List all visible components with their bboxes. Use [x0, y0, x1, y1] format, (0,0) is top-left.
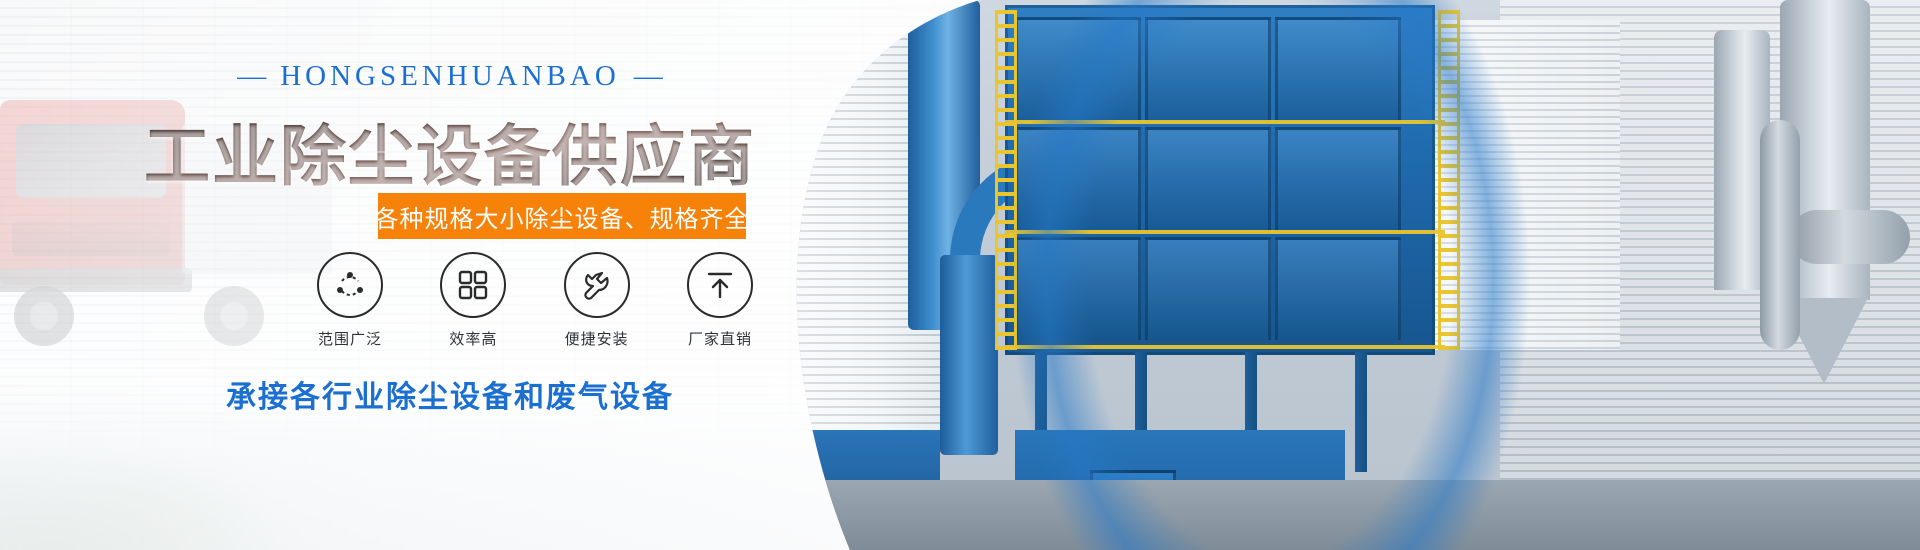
brand-pinyin-eyebrow: —HONGSENHUANBAO— — [0, 60, 900, 93]
baghouse-cell — [1275, 17, 1401, 123]
yellow-ladder — [1438, 10, 1460, 350]
banner-content: —HONGSENHUANBAO— 工业除尘设备供应商 各种规格大小除尘设备、规格… — [0, 0, 900, 550]
baghouse-cell — [1015, 127, 1141, 233]
eyebrow-dash-right: — — [634, 60, 663, 93]
subtitle-orange-band: 各种规格大小除尘设备、规格齐全 — [378, 193, 746, 239]
feature-list: 范围广泛 效率高 — [300, 252, 770, 349]
feature-item-factory-direct[interactable]: 厂家直销 — [670, 252, 770, 349]
share-network-icon — [317, 252, 383, 318]
baghouse-cell — [1275, 237, 1401, 343]
yellow-railing — [1005, 120, 1445, 124]
dust-collector-plant-photo — [790, 0, 1920, 550]
page-title: 工业除尘设备供应商 — [0, 103, 900, 199]
yellow-ladder — [995, 10, 1017, 350]
feature-item-easy-install[interactable]: 便捷安装 — [547, 252, 647, 349]
baghouse-cell — [1145, 127, 1271, 233]
subtitle-text: 各种规格大小除尘设备、规格齐全 — [375, 199, 750, 234]
eyebrow-text: HONGSENHUANBAO — [280, 60, 620, 92]
gray-pipe-vertical — [1760, 120, 1800, 350]
feature-item-high-efficiency[interactable]: 效率高 — [423, 252, 523, 349]
baghouse-cell — [1015, 237, 1141, 343]
eyebrow-dash-left: — — [237, 60, 266, 93]
yellow-railing — [1005, 230, 1445, 234]
feature-item-wide-range[interactable]: 范围广泛 — [300, 252, 400, 349]
baghouse-cell — [1145, 237, 1271, 343]
gray-pipe — [1790, 210, 1910, 264]
feature-label: 范围广泛 — [300, 328, 400, 349]
baghouse-cell — [1015, 17, 1141, 123]
feature-label: 厂家直销 — [670, 328, 770, 349]
grid-squares-icon — [440, 252, 506, 318]
feature-label: 效率高 — [423, 328, 523, 349]
baghouse-cell — [1275, 127, 1401, 233]
plant-ground — [790, 480, 1920, 550]
blue-baghouse-unit — [1005, 5, 1435, 355]
hero-banner: —HONGSENHUANBAO— 工业除尘设备供应商 各种规格大小除尘设备、规格… — [0, 0, 1920, 550]
tagline: 承接各行业除尘设备和废气设备 — [0, 372, 900, 416]
baghouse-cell — [1145, 17, 1271, 123]
yellow-railing — [1005, 345, 1445, 349]
wrench-tool-icon — [564, 252, 630, 318]
feature-label: 便捷安装 — [547, 328, 647, 349]
blue-downcomer-duct — [940, 255, 998, 455]
arrow-up-to-line-icon — [687, 252, 753, 318]
